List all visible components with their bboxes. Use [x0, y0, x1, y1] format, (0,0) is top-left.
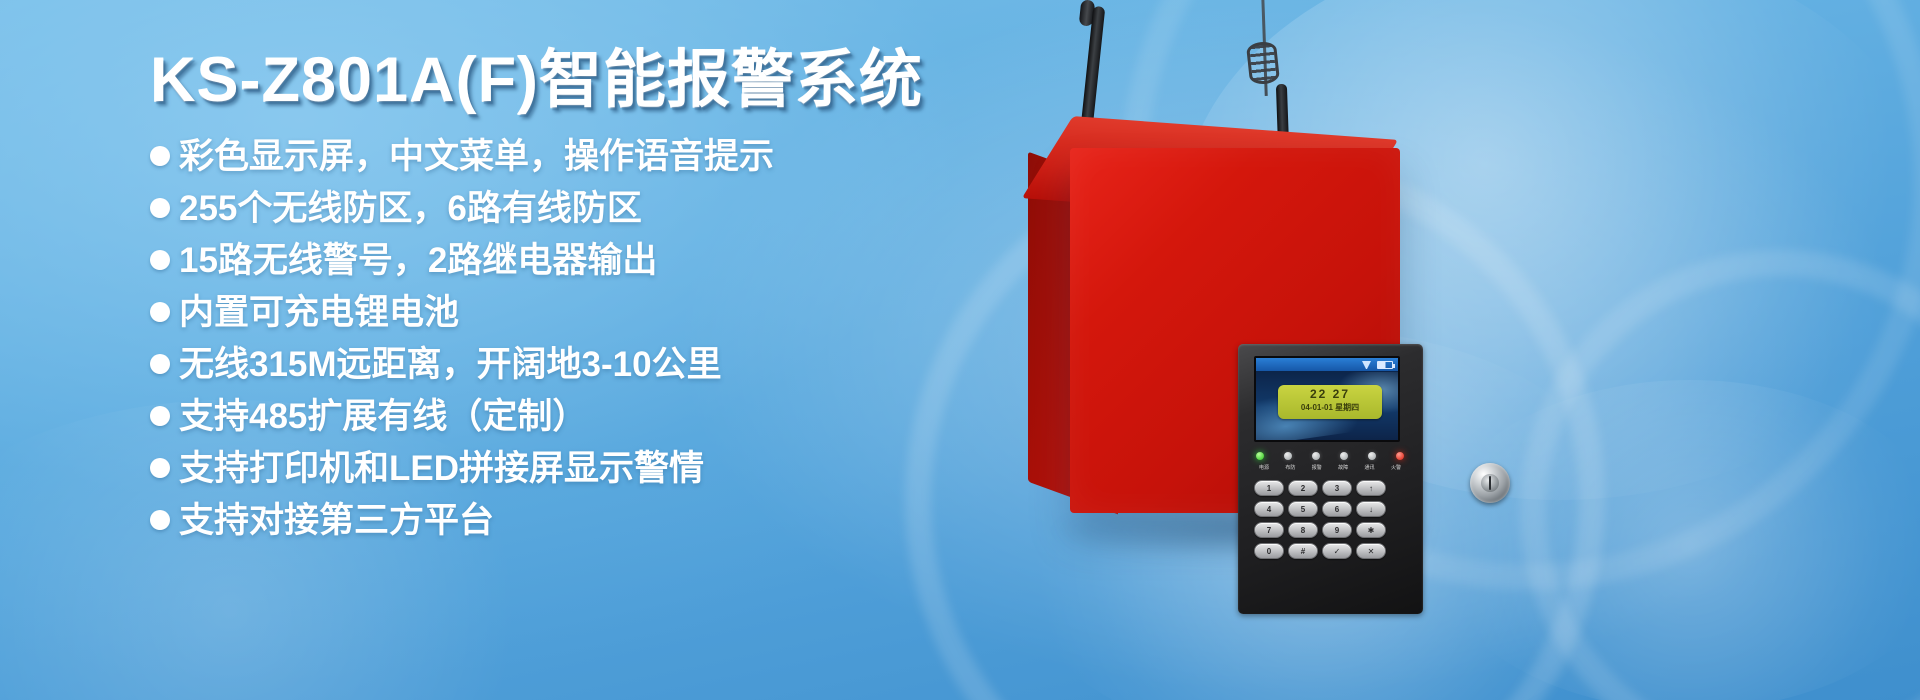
bullet-icon — [150, 406, 170, 426]
feature-item: 无线315M远距离，开阔地3-10公里 — [150, 340, 990, 388]
key-4[interactable]: 4 — [1254, 501, 1284, 517]
key-5[interactable]: 5 — [1288, 501, 1318, 517]
led-alarm — [1312, 452, 1320, 460]
battery-icon — [1377, 361, 1393, 369]
lock-keyhole — [1489, 476, 1491, 490]
feature-item: 15路无线警号，2路继电器输出 — [150, 236, 990, 284]
bullet-icon — [150, 510, 170, 530]
feature-item: 彩色显示屏，中文菜单，操作语音提示 — [150, 132, 990, 180]
lcd-status-bar — [1256, 358, 1398, 371]
feature-item: 255个无线防区，6路有线防区 — [150, 184, 990, 232]
key-cancel[interactable]: ✕ — [1356, 543, 1386, 559]
led-comm — [1368, 452, 1376, 460]
product-banner: KS-Z801A(F)智能报警系统 彩色显示屏，中文菜单，操作语音提示 255个… — [0, 0, 1920, 700]
key-8[interactable]: 8 — [1288, 522, 1318, 538]
lcd-clock-card: 22 27 04-01-01 星期四 — [1278, 385, 1382, 419]
feature-label: 支持485扩展有线（定制） — [179, 399, 587, 434]
bullet-icon — [150, 302, 170, 322]
led-label: 火警 — [1384, 464, 1408, 471]
lcd-screen: 22 27 04-01-01 星期四 — [1254, 356, 1400, 442]
led-label: 故障 — [1331, 464, 1355, 471]
alarm-control-panel: 22 27 04-01-01 星期四 电源 布防 报警 故障 — [930, 0, 1920, 700]
enclosure-front: 22 27 04-01-01 星期四 电源 布防 报警 故障 — [1070, 148, 1400, 513]
feature-list: 彩色显示屏，中文菜单，操作语音提示 255个无线防区，6路有线防区 15路无线警… — [150, 132, 990, 544]
led-fault — [1340, 452, 1348, 460]
key-hash[interactable]: # — [1288, 543, 1318, 559]
key-up[interactable]: ↑ — [1356, 480, 1386, 496]
feature-item: 内置可充电锂电池 — [150, 288, 990, 336]
indicator-led-row — [1256, 452, 1404, 460]
lock-core — [1481, 474, 1499, 492]
key-confirm[interactable]: ✓ — [1322, 543, 1352, 559]
lock-icon[interactable] — [1470, 463, 1510, 503]
key-0[interactable]: 0 — [1254, 543, 1284, 559]
lcd-time: 22 27 — [1278, 385, 1382, 402]
key-9[interactable]: 9 — [1322, 522, 1352, 538]
feature-label: 无线315M远距离，开阔地3-10公里 — [179, 347, 722, 382]
bullet-icon — [150, 250, 170, 270]
signal-icon — [1362, 361, 1371, 369]
key-star[interactable]: ✱ — [1356, 522, 1386, 538]
led-power — [1256, 452, 1264, 460]
feature-label: 15路无线警号，2路继电器输出 — [179, 243, 657, 278]
led-label: 电源 — [1252, 464, 1276, 471]
key-6[interactable]: 6 — [1322, 501, 1352, 517]
key-1[interactable]: 1 — [1254, 480, 1284, 496]
feature-item: 支持打印机和LED拼接屏显示警情 — [150, 444, 990, 492]
feature-item: 支持对接第三方平台 — [150, 496, 990, 544]
led-label: 布防 — [1278, 464, 1302, 471]
key-down[interactable]: ↓ — [1356, 501, 1386, 517]
feature-label: 支持对接第三方平台 — [179, 503, 494, 538]
led-fire — [1396, 452, 1404, 460]
bullet-icon — [150, 146, 170, 166]
led-label: 报警 — [1305, 464, 1329, 471]
control-faceplate: 22 27 04-01-01 星期四 电源 布防 报警 故障 — [1238, 344, 1423, 614]
led-label: 通讯 — [1358, 464, 1382, 471]
feature-label: 255个无线防区，6路有线防区 — [179, 191, 642, 226]
banner-content: KS-Z801A(F)智能报警系统 彩色显示屏，中文菜单，操作语音提示 255个… — [150, 44, 990, 548]
led-arm — [1284, 452, 1292, 460]
feature-item: 支持485扩展有线（定制） — [150, 392, 990, 440]
bullet-icon — [150, 354, 170, 374]
feature-label: 支持打印机和LED拼接屏显示警情 — [179, 451, 704, 486]
key-2[interactable]: 2 — [1288, 480, 1318, 496]
bullet-icon — [150, 198, 170, 218]
feature-label: 内置可充电锂电池 — [179, 295, 459, 330]
indicator-label-row: 电源 布防 报警 故障 通讯 火警 — [1252, 464, 1408, 471]
keypad[interactable]: 1 2 3 ↑ 4 5 6 ↓ 7 8 9 ✱ 0 # ✓ ✕ — [1254, 480, 1386, 559]
bullet-icon — [150, 458, 170, 478]
key-3[interactable]: 3 — [1322, 480, 1352, 496]
key-7[interactable]: 7 — [1254, 522, 1284, 538]
lcd-date: 04-01-01 星期四 — [1278, 402, 1382, 413]
feature-label: 彩色显示屏，中文菜单，操作语音提示 — [179, 139, 774, 174]
antenna-coil — [1246, 41, 1280, 86]
product-title: KS-Z801A(F)智能报警系统 — [150, 44, 990, 116]
